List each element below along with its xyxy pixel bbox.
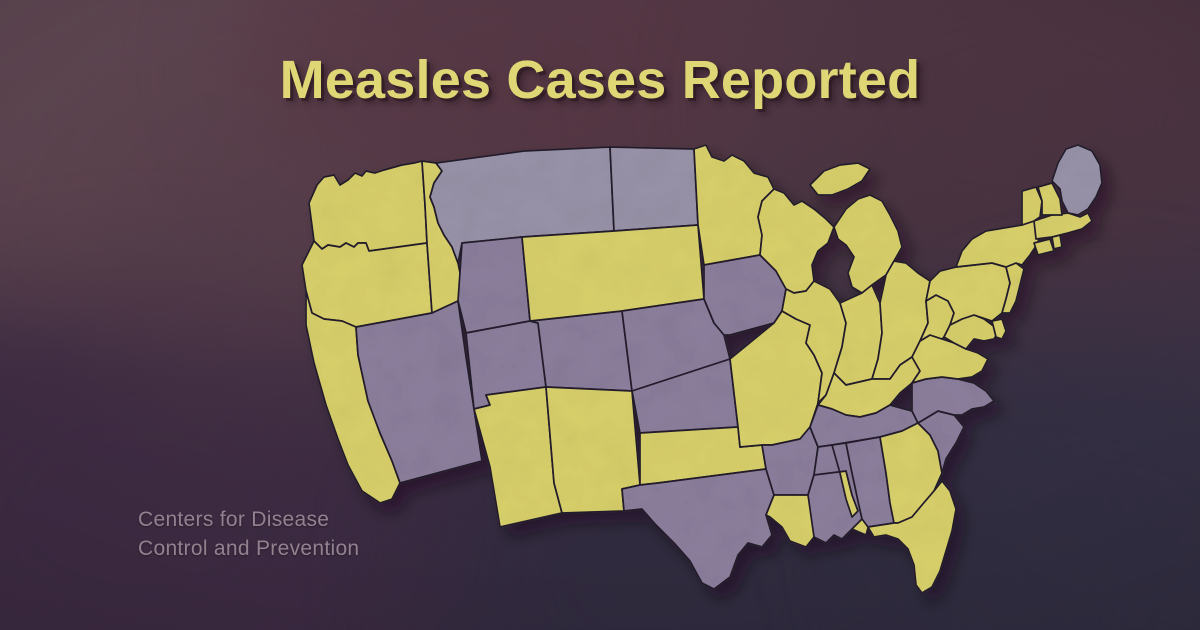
- credit-line-1: Centers for Disease: [138, 505, 359, 534]
- credit-line-2: Control and Prevention: [138, 534, 359, 563]
- state-OR[interactable]: [302, 241, 432, 327]
- page-title: Measles Cases Reported: [0, 49, 1200, 111]
- state-CO[interactable]: [530, 311, 632, 391]
- state-WY[interactable]: [458, 237, 530, 333]
- state-WA[interactable]: [309, 161, 427, 251]
- state-ND[interactable]: [610, 147, 698, 231]
- state-CT[interactable]: [1034, 239, 1054, 255]
- source-credit: Centers for Disease Control and Preventi…: [138, 505, 359, 563]
- infographic-slide: Measles Cases Reported: [0, 0, 1200, 630]
- state-TX[interactable]: [622, 469, 774, 589]
- us-choropleth-map: [262, 143, 952, 593]
